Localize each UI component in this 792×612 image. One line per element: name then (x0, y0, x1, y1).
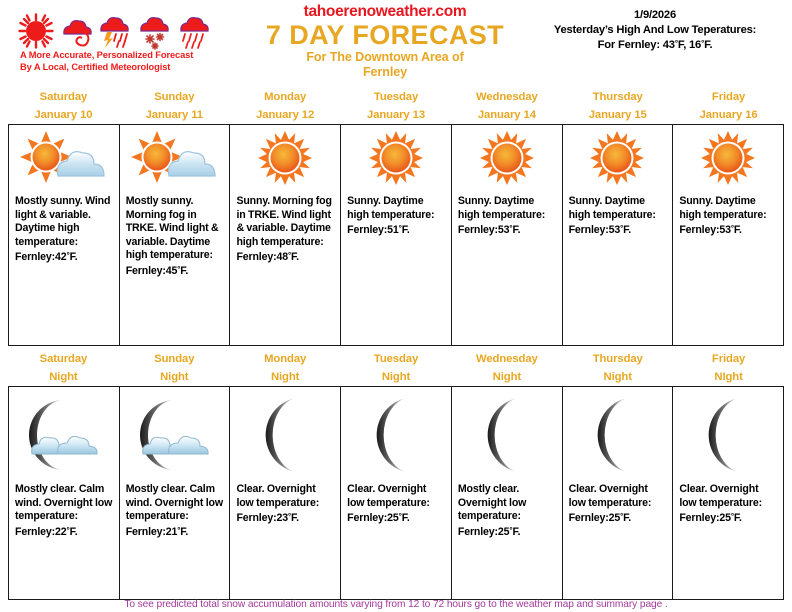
forecast-date: 1/9/2026 (524, 8, 786, 23)
day-date: January 14 (451, 106, 562, 124)
forecast-text: Mostly sunny. Wind light & variable. Day… (9, 193, 119, 265)
forecast-text: Sunny. Morning fog in TRKE. Wind light &… (230, 193, 340, 265)
forecast-text: Mostly sunny. Morning fog in TRKE. Wind … (120, 193, 230, 279)
night-day-name: Wednesday (451, 350, 562, 368)
night-cell-friday: Clear. Overnight low temperature: Fernle… (673, 387, 783, 599)
day-header-row: Saturday January 10 Sunday January 11 Mo… (8, 88, 784, 124)
day-header-1: Sunday January 11 (119, 88, 230, 124)
day-header-2: Monday January 12 (230, 88, 341, 124)
day-date: January 12 (230, 106, 341, 124)
sun-icon (341, 125, 451, 193)
day-name: Tuesday (341, 88, 452, 106)
subtitle-line-2: Fernley (225, 65, 545, 80)
day-date: January 11 (119, 106, 230, 124)
night-day-name: Friday (673, 350, 784, 368)
forecast-text: Sunny. Daytime high temperature: Fernley… (452, 193, 562, 238)
nighttime-forecast-grid: Mostly clear. Calm wind. Overnight low t… (8, 386, 784, 600)
crescent-moon-icon (341, 387, 451, 483)
night-cell-thursday: Clear. Overnight low temperature: Fernle… (563, 387, 674, 599)
day-header-4: Wednesday January 14 (451, 88, 562, 124)
night-period: Night (451, 368, 562, 386)
forecast-cell-monday: Sunny. Morning fog in TRKE. Wind light &… (230, 125, 341, 345)
page-header: A More Accurate, Personalized Forecast B… (0, 0, 792, 88)
subtitle-line-1: For The Downtown Area of (225, 50, 545, 65)
date-and-yesterday-block: 1/9/2026 Yesterday’s High And Low Tepera… (524, 8, 786, 53)
sun-behind-cloud-icon (120, 125, 230, 193)
day-name: Friday (673, 88, 784, 106)
moon-behind-cloud-icon (120, 387, 230, 483)
forecast-text: Sunny. Daytime high temperature: Fernley… (563, 193, 673, 238)
brand-icon-strip (8, 4, 218, 50)
night-period: Night (230, 368, 341, 386)
title-block: tahoerenoweather.com 7 DAY FORECAST For … (225, 3, 545, 80)
thunderstorm-icon (96, 10, 134, 50)
night-forecast-text: Mostly clear. Calm wind. Overnight low t… (120, 483, 230, 539)
night-cell-monday: Clear. Overnight low temperature: Fernle… (230, 387, 341, 599)
day-name: Sunday (119, 88, 230, 106)
brand-tagline-line2: By A Local, Certified Meteorologist (20, 62, 218, 74)
night-forecast-text: Mostly clear. Overnight low temperature:… (452, 483, 562, 539)
night-forecast-text: Clear. Overnight low temperature: Fernle… (673, 483, 783, 526)
day-header-5: Thursday January 15 (562, 88, 673, 124)
forecast-cell-sunday: Mostly sunny. Morning fog in TRKE. Wind … (120, 125, 231, 345)
cloud-icon (56, 12, 94, 50)
night-header-6: Friday NIght (673, 350, 784, 386)
day-date: January 16 (673, 106, 784, 124)
forecast-text: Sunny. Daytime high temperature: Fernley… (673, 193, 783, 238)
night-period: Night (341, 368, 452, 386)
footer-note[interactable]: To see predicted total snow accumulation… (0, 599, 792, 610)
night-header-row: Saturday Night Sunday Night Monday Night… (8, 350, 784, 386)
day-date: January 10 (8, 106, 119, 124)
brand-tagline-line1: A More Accurate, Personalized Forecast (20, 50, 218, 62)
crescent-moon-icon (230, 387, 340, 483)
daytime-forecast-grid: Mostly sunny. Wind light & variable. Day… (8, 124, 784, 346)
night-forecast-text: Clear. Overnight low temperature: Fernle… (563, 483, 673, 526)
night-forecast-text: Clear. Overnight low temperature: Fernle… (230, 483, 340, 526)
day-header-6: Friday January 16 (673, 88, 784, 124)
night-forecast-text: Mostly clear. Calm wind. Overnight low t… (9, 483, 119, 539)
snow-icon (136, 10, 174, 50)
night-header-3: Tuesday Night (341, 350, 452, 386)
crescent-moon-icon (563, 387, 673, 483)
day-date: January 13 (341, 106, 452, 124)
day-name: Wednesday (451, 88, 562, 106)
sun-icon (230, 125, 340, 193)
night-period: Night (119, 368, 230, 386)
forecast-cell-wednesday: Sunny. Daytime high temperature: Fernley… (452, 125, 563, 345)
page-title: 7 DAY FORECAST (225, 21, 545, 50)
site-url[interactable]: tahoerenoweather.com (225, 3, 545, 21)
brand-block: A More Accurate, Personalized Forecast B… (8, 4, 218, 73)
night-day-name: Sunday (119, 350, 230, 368)
night-day-name: Thursday (562, 350, 673, 368)
forecast-cell-thursday: Sunny. Daytime high temperature: Fernley… (563, 125, 674, 345)
forecast-cell-tuesday: Sunny. Daytime high temperature: Fernley… (341, 125, 452, 345)
sun-behind-cloud-icon (9, 125, 119, 193)
night-period: Night (562, 368, 673, 386)
yesterday-values: For Fernley: 43°F, 16°F. (524, 37, 786, 53)
yesterday-label: Yesterday’s High And Low Teperatures: (524, 23, 786, 38)
night-cell-sunday: Mostly clear. Calm wind. Overnight low t… (120, 387, 231, 599)
night-header-0: Saturday Night (8, 350, 119, 386)
night-header-1: Sunday Night (119, 350, 230, 386)
day-name: Monday (230, 88, 341, 106)
night-period: Night (8, 368, 119, 386)
night-header-2: Monday Night (230, 350, 341, 386)
forecast-cell-friday: Sunny. Daytime high temperature: Fernley… (673, 125, 783, 345)
sun-icon (563, 125, 673, 193)
night-header-5: Thursday Night (562, 350, 673, 386)
night-forecast-text: Clear. Overnight low temperature: Fernle… (341, 483, 451, 526)
night-day-name: Monday (230, 350, 341, 368)
rain-icon (176, 10, 214, 50)
night-period: NIght (673, 368, 784, 386)
sun-icon (452, 125, 562, 193)
moon-behind-cloud-icon (9, 387, 119, 483)
day-header-3: Tuesday January 13 (341, 88, 452, 124)
day-header-0: Saturday January 10 (8, 88, 119, 124)
night-cell-tuesday: Clear. Overnight low temperature: Fernle… (341, 387, 452, 599)
night-header-4: Wednesday Night (451, 350, 562, 386)
day-name: Thursday (562, 88, 673, 106)
day-date: January 15 (562, 106, 673, 124)
night-cell-wednesday: Mostly clear. Overnight low temperature:… (452, 387, 563, 599)
day-name: Saturday (8, 88, 119, 106)
night-cell-saturday: Mostly clear. Calm wind. Overnight low t… (9, 387, 120, 599)
forecast-cell-saturday: Mostly sunny. Wind light & variable. Day… (9, 125, 120, 345)
crescent-moon-icon (452, 387, 562, 483)
forecast-text: Sunny. Daytime high temperature: Fernley… (341, 193, 451, 238)
night-day-name: Tuesday (341, 350, 452, 368)
sun-icon (18, 12, 54, 50)
night-day-name: Saturday (8, 350, 119, 368)
crescent-moon-icon (673, 387, 783, 483)
sun-icon (673, 125, 783, 193)
